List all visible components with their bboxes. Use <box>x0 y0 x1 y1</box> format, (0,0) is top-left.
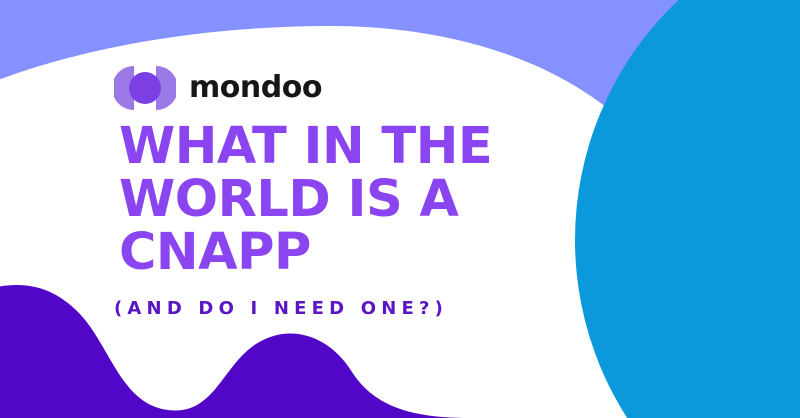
mondoo-logo-mark-icon <box>114 66 176 110</box>
page-title: WHAT IN THE WORLD IS A CNAPP <box>119 120 639 279</box>
headline-line-2: WORLD IS A <box>119 173 639 226</box>
title-card-canvas: mondoo WHAT IN THE WORLD IS A CNAPP (AND… <box>0 0 800 418</box>
content-layer: mondoo WHAT IN THE WORLD IS A CNAPP (AND… <box>0 0 800 418</box>
headline-line-3: CNAPP <box>119 226 639 279</box>
page-subtitle: (AND DO I NEED ONE?) <box>114 298 448 319</box>
headline-line-1: WHAT IN THE <box>119 120 639 173</box>
brand-lockup[interactable]: mondoo <box>114 66 322 110</box>
brand-wordmark: mondoo <box>189 73 322 103</box>
